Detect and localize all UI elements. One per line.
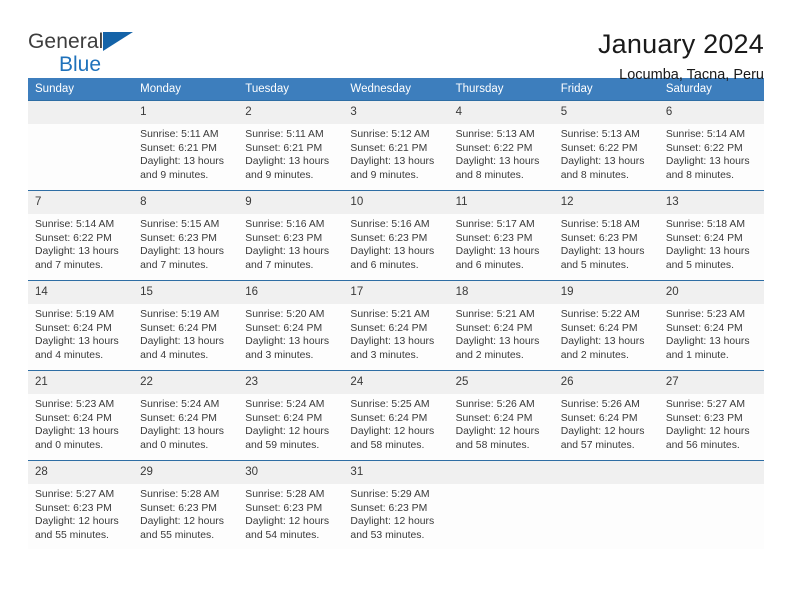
calendar-day-cell[interactable]: 23Sunrise: 5:24 AMSunset: 6:24 PMDayligh… [238, 371, 343, 461]
sunrise-time: Sunrise: 5:19 AM [140, 308, 232, 322]
day-number: 24 [343, 371, 448, 394]
daylight-duration-line2: and 1 minute. [666, 349, 758, 363]
day-cell-inner: 18Sunrise: 5:21 AMSunset: 6:24 PMDayligh… [449, 281, 554, 370]
day-number: 26 [554, 371, 659, 394]
day-detail: Sunrise: 5:16 AMSunset: 6:23 PMDaylight:… [238, 214, 343, 272]
day-cell-inner [659, 461, 764, 549]
sunrise-time: Sunrise: 5:16 AM [245, 218, 337, 232]
day-number: 22 [133, 371, 238, 394]
day-detail [659, 484, 764, 488]
day-detail: Sunrise: 5:14 AMSunset: 6:22 PMDaylight:… [28, 214, 133, 272]
daylight-duration-line2: and 3 minutes. [245, 349, 337, 363]
sunrise-time: Sunrise: 5:18 AM [666, 218, 758, 232]
day-detail: Sunrise: 5:27 AMSunset: 6:23 PMDaylight:… [659, 394, 764, 452]
daylight-duration-line1: Daylight: 13 hours [666, 335, 758, 349]
calendar-week-row: 21Sunrise: 5:23 AMSunset: 6:24 PMDayligh… [28, 371, 764, 461]
day-number: 3 [343, 101, 448, 124]
sunrise-time: Sunrise: 5:19 AM [35, 308, 127, 322]
daylight-duration-line2: and 3 minutes. [350, 349, 442, 363]
logo-text-blue: Blue [28, 54, 148, 76]
sunrise-time: Sunrise: 5:20 AM [245, 308, 337, 322]
sunset-time: Sunset: 6:23 PM [561, 232, 653, 246]
calendar-day-cell[interactable]: 27Sunrise: 5:27 AMSunset: 6:23 PMDayligh… [659, 371, 764, 461]
daylight-duration-line2: and 9 minutes. [350, 169, 442, 183]
calendar-week-row: 7Sunrise: 5:14 AMSunset: 6:22 PMDaylight… [28, 191, 764, 281]
sunset-time: Sunset: 6:24 PM [350, 412, 442, 426]
day-number [659, 461, 764, 484]
day-cell-inner: 31Sunrise: 5:29 AMSunset: 6:23 PMDayligh… [343, 461, 448, 549]
day-cell-inner: 13Sunrise: 5:18 AMSunset: 6:24 PMDayligh… [659, 191, 764, 280]
sunrise-time: Sunrise: 5:26 AM [456, 398, 548, 412]
daylight-duration-line2: and 9 minutes. [245, 169, 337, 183]
sunrise-time: Sunrise: 5:29 AM [350, 488, 442, 502]
day-number: 27 [659, 371, 764, 394]
calendar-day-cell[interactable]: 14Sunrise: 5:19 AMSunset: 6:24 PMDayligh… [28, 281, 133, 371]
daylight-duration-line1: Daylight: 13 hours [140, 425, 232, 439]
sunset-time: Sunset: 6:24 PM [561, 322, 653, 336]
sunrise-time: Sunrise: 5:12 AM [350, 128, 442, 142]
daylight-duration-line1: Daylight: 13 hours [140, 155, 232, 169]
calendar-week-row: 1Sunrise: 5:11 AMSunset: 6:21 PMDaylight… [28, 101, 764, 191]
daylight-duration-line2: and 9 minutes. [140, 169, 232, 183]
sunrise-time: Sunrise: 5:11 AM [140, 128, 232, 142]
sunset-time: Sunset: 6:23 PM [666, 412, 758, 426]
daylight-duration-line2: and 53 minutes. [350, 529, 442, 543]
sunset-time: Sunset: 6:24 PM [35, 412, 127, 426]
daylight-duration-line1: Daylight: 13 hours [140, 245, 232, 259]
day-cell-inner: 25Sunrise: 5:26 AMSunset: 6:24 PMDayligh… [449, 371, 554, 460]
daylight-duration-line1: Daylight: 13 hours [456, 155, 548, 169]
sunrise-time: Sunrise: 5:23 AM [666, 308, 758, 322]
calendar-day-cell[interactable]: 24Sunrise: 5:25 AMSunset: 6:24 PMDayligh… [343, 371, 448, 461]
sunset-time: Sunset: 6:23 PM [456, 232, 548, 246]
daylight-duration-line2: and 0 minutes. [140, 439, 232, 453]
calendar-day-cell[interactable]: 12Sunrise: 5:18 AMSunset: 6:23 PMDayligh… [554, 191, 659, 281]
day-detail [554, 484, 659, 488]
sunrise-time: Sunrise: 5:22 AM [561, 308, 653, 322]
day-detail: Sunrise: 5:27 AMSunset: 6:23 PMDaylight:… [28, 484, 133, 542]
day-detail: Sunrise: 5:22 AMSunset: 6:24 PMDaylight:… [554, 304, 659, 362]
daylight-duration-line1: Daylight: 13 hours [561, 155, 653, 169]
weekday-header-sunday: Sunday [28, 78, 133, 101]
daylight-duration-line1: Daylight: 13 hours [561, 335, 653, 349]
day-cell-inner: 26Sunrise: 5:26 AMSunset: 6:24 PMDayligh… [554, 371, 659, 460]
day-detail: Sunrise: 5:23 AMSunset: 6:24 PMDaylight:… [28, 394, 133, 452]
calendar-day-cell[interactable]: 15Sunrise: 5:19 AMSunset: 6:24 PMDayligh… [133, 281, 238, 371]
sunset-time: Sunset: 6:22 PM [561, 142, 653, 156]
daylight-duration-line1: Daylight: 13 hours [350, 335, 442, 349]
sunset-time: Sunset: 6:23 PM [140, 232, 232, 246]
day-number: 10 [343, 191, 448, 214]
sunset-time: Sunset: 6:22 PM [666, 142, 758, 156]
daylight-duration-line1: Daylight: 13 hours [245, 245, 337, 259]
title-block: January 2024 Locumba, Tacna, Peru [598, 26, 764, 86]
daylight-duration-line2: and 7 minutes. [245, 259, 337, 273]
daylight-duration-line2: and 0 minutes. [35, 439, 127, 453]
calendar-body: 1Sunrise: 5:11 AMSunset: 6:21 PMDaylight… [28, 101, 764, 549]
calendar-day-cell[interactable]: 2Sunrise: 5:11 AMSunset: 6:21 PMDaylight… [238, 101, 343, 191]
calendar-day-cell[interactable]: 16Sunrise: 5:20 AMSunset: 6:24 PMDayligh… [238, 281, 343, 371]
daylight-duration-line1: Daylight: 12 hours [561, 425, 653, 439]
day-detail: Sunrise: 5:26 AMSunset: 6:24 PMDaylight:… [449, 394, 554, 452]
day-number: 2 [238, 101, 343, 124]
daylight-duration-line2: and 6 minutes. [456, 259, 548, 273]
day-number: 7 [28, 191, 133, 214]
day-cell-inner: 30Sunrise: 5:28 AMSunset: 6:23 PMDayligh… [238, 461, 343, 549]
calendar-day-cell[interactable]: 20Sunrise: 5:23 AMSunset: 6:24 PMDayligh… [659, 281, 764, 371]
day-detail: Sunrise: 5:13 AMSunset: 6:22 PMDaylight:… [449, 124, 554, 182]
sunset-time: Sunset: 6:23 PM [245, 502, 337, 516]
day-cell-inner: 15Sunrise: 5:19 AMSunset: 6:24 PMDayligh… [133, 281, 238, 370]
daylight-duration-line1: Daylight: 13 hours [35, 425, 127, 439]
daylight-duration-line2: and 5 minutes. [561, 259, 653, 273]
calendar-day-cell[interactable]: 5Sunrise: 5:13 AMSunset: 6:22 PMDaylight… [554, 101, 659, 191]
day-cell-inner: 10Sunrise: 5:16 AMSunset: 6:23 PMDayligh… [343, 191, 448, 280]
calendar-day-cell[interactable]: 29Sunrise: 5:28 AMSunset: 6:23 PMDayligh… [133, 461, 238, 549]
day-cell-inner: 1Sunrise: 5:11 AMSunset: 6:21 PMDaylight… [133, 101, 238, 190]
day-cell-inner: 23Sunrise: 5:24 AMSunset: 6:24 PMDayligh… [238, 371, 343, 460]
sunset-time: Sunset: 6:24 PM [456, 322, 548, 336]
day-number: 6 [659, 101, 764, 124]
day-number: 11 [449, 191, 554, 214]
sunrise-time: Sunrise: 5:25 AM [350, 398, 442, 412]
daylight-duration-line1: Daylight: 13 hours [140, 335, 232, 349]
sunset-time: Sunset: 6:24 PM [666, 322, 758, 336]
calendar-day-cell[interactable]: 26Sunrise: 5:26 AMSunset: 6:24 PMDayligh… [554, 371, 659, 461]
day-detail: Sunrise: 5:21 AMSunset: 6:24 PMDaylight:… [449, 304, 554, 362]
day-detail: Sunrise: 5:19 AMSunset: 6:24 PMDaylight:… [133, 304, 238, 362]
calendar-week-row: 28Sunrise: 5:27 AMSunset: 6:23 PMDayligh… [28, 461, 764, 549]
sunset-time: Sunset: 6:24 PM [666, 232, 758, 246]
daylight-duration-line2: and 7 minutes. [35, 259, 127, 273]
day-detail: Sunrise: 5:19 AMSunset: 6:24 PMDaylight:… [28, 304, 133, 362]
calendar-day-cell[interactable]: 22Sunrise: 5:24 AMSunset: 6:24 PMDayligh… [133, 371, 238, 461]
day-cell-inner: 4Sunrise: 5:13 AMSunset: 6:22 PMDaylight… [449, 101, 554, 190]
day-detail: Sunrise: 5:14 AMSunset: 6:22 PMDaylight:… [659, 124, 764, 182]
daylight-duration-line1: Daylight: 12 hours [140, 515, 232, 529]
daylight-duration-line1: Daylight: 13 hours [561, 245, 653, 259]
day-cell-inner: 8Sunrise: 5:15 AMSunset: 6:23 PMDaylight… [133, 191, 238, 280]
sunrise-time: Sunrise: 5:21 AM [350, 308, 442, 322]
daylight-duration-line1: Daylight: 12 hours [666, 425, 758, 439]
day-cell-inner: 12Sunrise: 5:18 AMSunset: 6:23 PMDayligh… [554, 191, 659, 280]
daylight-duration-line2: and 55 minutes. [140, 529, 232, 543]
sunset-time: Sunset: 6:24 PM [140, 412, 232, 426]
day-detail: Sunrise: 5:17 AMSunset: 6:23 PMDaylight:… [449, 214, 554, 272]
sunset-time: Sunset: 6:23 PM [350, 232, 442, 246]
page-header: General Blue January 2024 Locumba, Tacna… [28, 0, 764, 78]
calendar-empty-cell [449, 461, 554, 549]
general-blue-logo[interactable]: General Blue [28, 26, 148, 78]
sunrise-time: Sunrise: 5:24 AM [140, 398, 232, 412]
daylight-duration-line1: Daylight: 12 hours [35, 515, 127, 529]
calendar-day-cell[interactable]: 13Sunrise: 5:18 AMSunset: 6:24 PMDayligh… [659, 191, 764, 281]
day-cell-inner [554, 461, 659, 549]
day-cell-inner: 14Sunrise: 5:19 AMSunset: 6:24 PMDayligh… [28, 281, 133, 370]
day-number: 13 [659, 191, 764, 214]
sunrise-time: Sunrise: 5:24 AM [245, 398, 337, 412]
daylight-duration-line2: and 7 minutes. [140, 259, 232, 273]
day-cell-inner [449, 461, 554, 549]
daylight-duration-line2: and 2 minutes. [456, 349, 548, 363]
day-number: 16 [238, 281, 343, 304]
day-cell-inner: 16Sunrise: 5:20 AMSunset: 6:24 PMDayligh… [238, 281, 343, 370]
sunrise-time: Sunrise: 5:26 AM [561, 398, 653, 412]
sunrise-time: Sunrise: 5:14 AM [666, 128, 758, 142]
calendar-empty-cell [554, 461, 659, 549]
day-detail: Sunrise: 5:21 AMSunset: 6:24 PMDaylight:… [343, 304, 448, 362]
calendar-day-cell[interactable]: 7Sunrise: 5:14 AMSunset: 6:22 PMDaylight… [28, 191, 133, 281]
weekday-header-thursday: Thursday [449, 78, 554, 101]
day-number: 21 [28, 371, 133, 394]
daylight-duration-line1: Daylight: 13 hours [456, 335, 548, 349]
day-cell-inner: 22Sunrise: 5:24 AMSunset: 6:24 PMDayligh… [133, 371, 238, 460]
day-cell-inner: 3Sunrise: 5:12 AMSunset: 6:21 PMDaylight… [343, 101, 448, 190]
calendar-day-cell[interactable]: 3Sunrise: 5:12 AMSunset: 6:21 PMDaylight… [343, 101, 448, 191]
daylight-duration-line1: Daylight: 12 hours [350, 515, 442, 529]
sunset-time: Sunset: 6:24 PM [561, 412, 653, 426]
sunset-time: Sunset: 6:24 PM [245, 322, 337, 336]
daylight-duration-line1: Daylight: 13 hours [666, 155, 758, 169]
daylight-duration-line1: Daylight: 12 hours [245, 515, 337, 529]
day-cell-inner: 2Sunrise: 5:11 AMSunset: 6:21 PMDaylight… [238, 101, 343, 190]
day-number: 4 [449, 101, 554, 124]
sunset-time: Sunset: 6:23 PM [35, 502, 127, 516]
day-cell-inner: 21Sunrise: 5:23 AMSunset: 6:24 PMDayligh… [28, 371, 133, 460]
sunset-time: Sunset: 6:24 PM [245, 412, 337, 426]
day-detail: Sunrise: 5:15 AMSunset: 6:23 PMDaylight:… [133, 214, 238, 272]
calendar-day-cell[interactable]: 9Sunrise: 5:16 AMSunset: 6:23 PMDaylight… [238, 191, 343, 281]
daylight-duration-line1: Daylight: 13 hours [350, 245, 442, 259]
day-detail [28, 124, 133, 128]
sunset-time: Sunset: 6:21 PM [350, 142, 442, 156]
daylight-duration-line1: Daylight: 13 hours [666, 245, 758, 259]
day-number: 20 [659, 281, 764, 304]
sunrise-time: Sunrise: 5:27 AM [35, 488, 127, 502]
sunrise-time: Sunrise: 5:23 AM [35, 398, 127, 412]
day-number: 28 [28, 461, 133, 484]
page-title: January 2024 [598, 28, 764, 61]
day-number: 14 [28, 281, 133, 304]
sunrise-sunset-calendar: Sunday Monday Tuesday Wednesday Thursday… [28, 78, 764, 549]
sunset-time: Sunset: 6:21 PM [140, 142, 232, 156]
daylight-duration-line2: and 8 minutes. [666, 169, 758, 183]
sunrise-time: Sunrise: 5:14 AM [35, 218, 127, 232]
day-cell-inner: 9Sunrise: 5:16 AMSunset: 6:23 PMDaylight… [238, 191, 343, 280]
daylight-duration-line1: Daylight: 12 hours [350, 425, 442, 439]
calendar-day-cell[interactable]: 10Sunrise: 5:16 AMSunset: 6:23 PMDayligh… [343, 191, 448, 281]
daylight-duration-line2: and 6 minutes. [350, 259, 442, 273]
day-detail: Sunrise: 5:13 AMSunset: 6:22 PMDaylight:… [554, 124, 659, 182]
day-detail: Sunrise: 5:28 AMSunset: 6:23 PMDaylight:… [133, 484, 238, 542]
day-number: 8 [133, 191, 238, 214]
daylight-duration-line2: and 8 minutes. [561, 169, 653, 183]
daylight-duration-line1: Daylight: 13 hours [245, 155, 337, 169]
calendar-day-cell[interactable]: 11Sunrise: 5:17 AMSunset: 6:23 PMDayligh… [449, 191, 554, 281]
sunset-time: Sunset: 6:21 PM [245, 142, 337, 156]
sunset-time: Sunset: 6:23 PM [350, 502, 442, 516]
calendar-day-cell[interactable]: 1Sunrise: 5:11 AMSunset: 6:21 PMDaylight… [133, 101, 238, 191]
daylight-duration-line2: and 8 minutes. [456, 169, 548, 183]
calendar-day-cell[interactable]: 19Sunrise: 5:22 AMSunset: 6:24 PMDayligh… [554, 281, 659, 371]
day-cell-inner: 5Sunrise: 5:13 AMSunset: 6:22 PMDaylight… [554, 101, 659, 190]
calendar-day-cell[interactable]: 4Sunrise: 5:13 AMSunset: 6:22 PMDaylight… [449, 101, 554, 191]
weekday-header-monday: Monday [133, 78, 238, 101]
daylight-duration-line2: and 58 minutes. [350, 439, 442, 453]
day-detail: Sunrise: 5:11 AMSunset: 6:21 PMDaylight:… [133, 124, 238, 182]
day-detail: Sunrise: 5:16 AMSunset: 6:23 PMDaylight:… [343, 214, 448, 272]
day-number [554, 461, 659, 484]
day-number: 19 [554, 281, 659, 304]
day-number: 18 [449, 281, 554, 304]
calendar-day-cell[interactable]: 18Sunrise: 5:21 AMSunset: 6:24 PMDayligh… [449, 281, 554, 371]
calendar-day-cell[interactable]: 28Sunrise: 5:27 AMSunset: 6:23 PMDayligh… [28, 461, 133, 549]
day-number: 29 [133, 461, 238, 484]
daylight-duration-line1: Daylight: 13 hours [35, 245, 127, 259]
sunset-time: Sunset: 6:24 PM [350, 322, 442, 336]
day-number [28, 101, 133, 124]
day-detail: Sunrise: 5:20 AMSunset: 6:24 PMDaylight:… [238, 304, 343, 362]
sunrise-time: Sunrise: 5:11 AM [245, 128, 337, 142]
calendar-page: General Blue January 2024 Locumba, Tacna… [0, 0, 792, 612]
sunset-time: Sunset: 6:24 PM [35, 322, 127, 336]
sunrise-time: Sunrise: 5:13 AM [456, 128, 548, 142]
daylight-duration-line1: Daylight: 13 hours [35, 335, 127, 349]
sunrise-time: Sunrise: 5:15 AM [140, 218, 232, 232]
calendar-day-cell[interactable]: 8Sunrise: 5:15 AMSunset: 6:23 PMDaylight… [133, 191, 238, 281]
day-cell-inner: 6Sunrise: 5:14 AMSunset: 6:22 PMDaylight… [659, 101, 764, 190]
day-detail: Sunrise: 5:25 AMSunset: 6:24 PMDaylight:… [343, 394, 448, 452]
day-number: 25 [449, 371, 554, 394]
day-cell-inner: 11Sunrise: 5:17 AMSunset: 6:23 PMDayligh… [449, 191, 554, 280]
day-cell-inner: 28Sunrise: 5:27 AMSunset: 6:23 PMDayligh… [28, 461, 133, 549]
day-detail: Sunrise: 5:23 AMSunset: 6:24 PMDaylight:… [659, 304, 764, 362]
day-number: 5 [554, 101, 659, 124]
calendar-empty-cell [659, 461, 764, 549]
day-cell-inner: 24Sunrise: 5:25 AMSunset: 6:24 PMDayligh… [343, 371, 448, 460]
daylight-duration-line1: Daylight: 13 hours [245, 335, 337, 349]
day-number: 15 [133, 281, 238, 304]
daylight-duration-line2: and 5 minutes. [666, 259, 758, 273]
day-detail: Sunrise: 5:24 AMSunset: 6:24 PMDaylight:… [238, 394, 343, 452]
day-cell-inner: 20Sunrise: 5:23 AMSunset: 6:24 PMDayligh… [659, 281, 764, 370]
daylight-duration-line2: and 57 minutes. [561, 439, 653, 453]
day-detail: Sunrise: 5:26 AMSunset: 6:24 PMDaylight:… [554, 394, 659, 452]
daylight-duration-line2: and 56 minutes. [666, 439, 758, 453]
sunrise-time: Sunrise: 5:27 AM [666, 398, 758, 412]
sunrise-time: Sunrise: 5:28 AM [245, 488, 337, 502]
day-detail: Sunrise: 5:12 AMSunset: 6:21 PMDaylight:… [343, 124, 448, 182]
logo-triangle-icon [103, 32, 133, 51]
day-cell-inner: 17Sunrise: 5:21 AMSunset: 6:24 PMDayligh… [343, 281, 448, 370]
daylight-duration-line2: and 58 minutes. [456, 439, 548, 453]
calendar-day-cell[interactable]: 21Sunrise: 5:23 AMSunset: 6:24 PMDayligh… [28, 371, 133, 461]
sunrise-time: Sunrise: 5:13 AM [561, 128, 653, 142]
calendar-week-row: 14Sunrise: 5:19 AMSunset: 6:24 PMDayligh… [28, 281, 764, 371]
day-number: 17 [343, 281, 448, 304]
daylight-duration-line1: Daylight: 12 hours [456, 425, 548, 439]
day-number: 1 [133, 101, 238, 124]
day-number: 30 [238, 461, 343, 484]
daylight-duration-line1: Daylight: 13 hours [350, 155, 442, 169]
day-number [449, 461, 554, 484]
sunrise-time: Sunrise: 5:28 AM [140, 488, 232, 502]
day-cell-inner [28, 101, 133, 190]
day-cell-inner: 19Sunrise: 5:22 AMSunset: 6:24 PMDayligh… [554, 281, 659, 370]
calendar-day-cell[interactable]: 31Sunrise: 5:29 AMSunset: 6:23 PMDayligh… [343, 461, 448, 549]
calendar-empty-cell [28, 101, 133, 191]
daylight-duration-line2: and 54 minutes. [245, 529, 337, 543]
daylight-duration-line2: and 4 minutes. [35, 349, 127, 363]
day-detail: Sunrise: 5:18 AMSunset: 6:23 PMDaylight:… [554, 214, 659, 272]
day-number: 31 [343, 461, 448, 484]
day-detail: Sunrise: 5:29 AMSunset: 6:23 PMDaylight:… [343, 484, 448, 542]
sunset-time: Sunset: 6:24 PM [140, 322, 232, 336]
weekday-header-tuesday: Tuesday [238, 78, 343, 101]
day-cell-inner: 29Sunrise: 5:28 AMSunset: 6:23 PMDayligh… [133, 461, 238, 549]
sunset-time: Sunset: 6:23 PM [245, 232, 337, 246]
day-detail: Sunrise: 5:24 AMSunset: 6:24 PMDaylight:… [133, 394, 238, 452]
calendar-day-cell[interactable]: 25Sunrise: 5:26 AMSunset: 6:24 PMDayligh… [449, 371, 554, 461]
sunrise-time: Sunrise: 5:16 AM [350, 218, 442, 232]
calendar-day-cell[interactable]: 17Sunrise: 5:21 AMSunset: 6:24 PMDayligh… [343, 281, 448, 371]
daylight-duration-line1: Daylight: 12 hours [245, 425, 337, 439]
sunset-time: Sunset: 6:22 PM [35, 232, 127, 246]
day-detail [449, 484, 554, 488]
sunrise-time: Sunrise: 5:18 AM [561, 218, 653, 232]
sunset-time: Sunset: 6:22 PM [456, 142, 548, 156]
day-number: 12 [554, 191, 659, 214]
calendar-day-cell[interactable]: 6Sunrise: 5:14 AMSunset: 6:22 PMDaylight… [659, 101, 764, 191]
day-cell-inner: 27Sunrise: 5:27 AMSunset: 6:23 PMDayligh… [659, 371, 764, 460]
daylight-duration-line2: and 4 minutes. [140, 349, 232, 363]
daylight-duration-line2: and 2 minutes. [561, 349, 653, 363]
sunrise-time: Sunrise: 5:21 AM [456, 308, 548, 322]
day-number: 9 [238, 191, 343, 214]
day-detail: Sunrise: 5:28 AMSunset: 6:23 PMDaylight:… [238, 484, 343, 542]
daylight-duration-line2: and 59 minutes. [245, 439, 337, 453]
daylight-duration-line2: and 55 minutes. [35, 529, 127, 543]
daylight-duration-line1: Daylight: 13 hours [456, 245, 548, 259]
sunset-time: Sunset: 6:23 PM [140, 502, 232, 516]
day-number: 23 [238, 371, 343, 394]
weekday-header-wednesday: Wednesday [343, 78, 448, 101]
day-cell-inner: 7Sunrise: 5:14 AMSunset: 6:22 PMDaylight… [28, 191, 133, 280]
day-detail: Sunrise: 5:18 AMSunset: 6:24 PMDaylight:… [659, 214, 764, 272]
sunset-time: Sunset: 6:24 PM [456, 412, 548, 426]
calendar-day-cell[interactable]: 30Sunrise: 5:28 AMSunset: 6:23 PMDayligh… [238, 461, 343, 549]
sunrise-time: Sunrise: 5:17 AM [456, 218, 548, 232]
day-detail: Sunrise: 5:11 AMSunset: 6:21 PMDaylight:… [238, 124, 343, 182]
